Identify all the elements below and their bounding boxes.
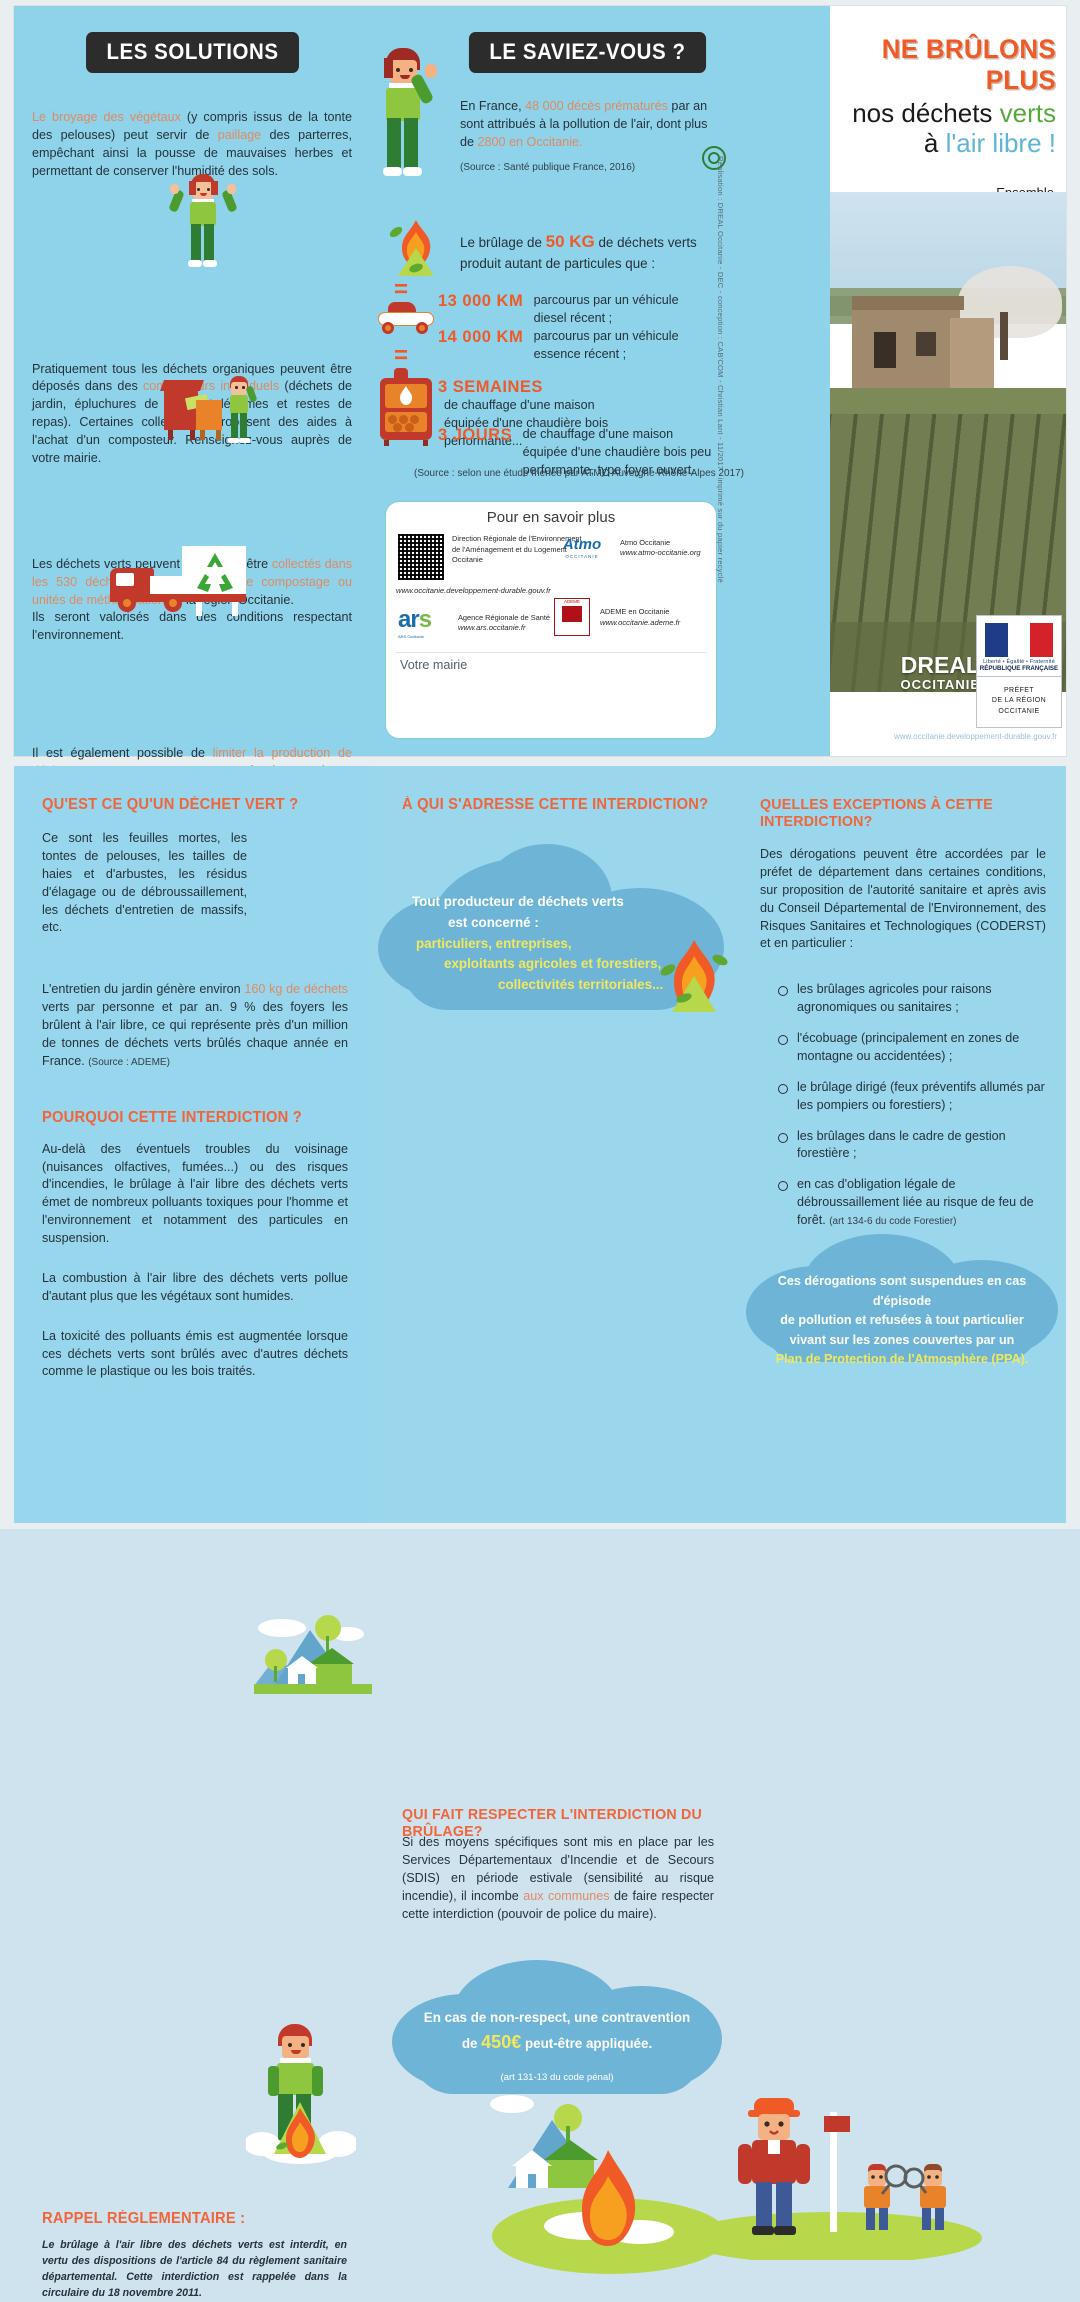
illustration-car [378,302,436,338]
equivalence-row-1: 14 000 KM parcourus par un véhicule esse… [438,328,728,364]
respecter-paragraph: Si des moyens spécifiques sont mis en pl… [402,1834,714,1923]
cover-title-line1: NE BRÛLONS PLUS [839,34,1056,96]
adresse-cloud-line2: est concerné : [448,913,702,934]
illustration-wood-stove [380,368,432,446]
republique-francaise-block: Liberté • Égalité • Fraternité RÉPUBLIQU… [976,615,1062,729]
pourquoi-paragraph-2: La combustion à l'air libre des déchets … [42,1270,348,1306]
solutions-paragraph-1: Le broyage des végétaux (y compris issus… [32,109,352,181]
exception-bullet-1: l'écobuage (principalement en zones de m… [778,1030,1046,1066]
adresse-cloud-line5: collectivités territoriales... [498,975,702,996]
equivalence-row-0: 13 000 KM parcourus par un véhicule dies… [438,292,728,328]
contact-0-url: www.occitanie.developpement-durable.gouv… [396,586,551,595]
contact-3-name: ADEME en Occitanie [600,607,680,618]
footer-url: www.occitanie.developpement-durable.gouv… [894,732,1057,741]
illustration-recycling-truck [110,546,285,626]
leaflet-outer-side: LES SOLUTIONS Le broyage des végétaux (y… [14,6,1066,756]
illustration-countryside [254,1614,372,1694]
contact-1-name: Agence Régionale de Santé [458,613,550,624]
illustration-burning-waste [388,218,444,280]
pourquoi-paragraph-3: La toxicité des polluants émis est augme… [42,1328,348,1382]
qr-code-icon [398,534,444,580]
panel-adresse-respecter: À QUI S'ADRESSE CETTE INTERDICTION? Tout… [370,766,732,1523]
marianne-name: RÉPUBLIQUE FRANÇAISE [977,665,1061,672]
cover-title-line3: à l'air libre ! [830,128,1056,158]
exceptions-intro: Des dérogations peuvent être accordées p… [760,846,1046,953]
votre-mairie-field: Votre mairie [400,658,467,672]
respecter-cloud-line1: En cas de non-respect, une contravention [412,2008,702,2029]
saviez-vous-source-2: (Source : selon une étude menée par ATMO… [414,468,744,479]
exceptions-heading: QUELLES EXCEPTIONS À CETTE INTERDICTION? [760,796,1051,830]
exception-bullet-3: les brûlages dans le cadre de gestion fo… [778,1128,1046,1164]
print-credit: Réalisation : DREAL Occitanie - DEC - co… [716,156,725,486]
illustration-composter [164,376,264,446]
illustration-happy-kid [166,174,240,270]
saviez-vous-intro: Le brûlage de 50 KG de déchets verts pro… [460,230,720,273]
panel-solutions: LES SOLUTIONS Le broyage des végétaux (y… [14,6,372,756]
ars-logo: ars ARS Occitanie [398,606,450,639]
saviez-vous-paragraph-1: En France, 48 000 décès prématurés par a… [460,98,710,152]
scanned-page: LES SOLUTIONS Le broyage des végétaux (y… [0,0,1080,1529]
illustration-pointing-kid [378,48,454,183]
leaflet-inner-side: QU'EST CE QU'UN DÉCHET VERT ? Ce sont le… [14,766,1066,1523]
contact-3-url: www.occitanie.ademe.fr [600,618,680,627]
equals-sign-1: = [394,276,408,304]
adresse-cloud-line3: particuliers, entreprises, [416,934,702,955]
cloud-contravention: En cas de non-respect, une contravention… [392,1946,722,2106]
cover-photo-caption: DREAL OCCITANIE [900,654,980,692]
contact-2-name: Atmo Occitanie [620,538,701,549]
saviez-vous-source-1: (Source : Santé publique France, 2016) [460,162,635,173]
french-flag-icon [985,623,1053,657]
ademe-logo: ADEME [554,598,590,636]
saviez-vous-heading: LE SAVIEZ-VOUS ? [469,32,706,73]
atmo-logo: Atmo OCCITANIE [554,536,610,559]
illustration-firefighter-scene [682,2060,982,2260]
bullet-circle-icon [778,1084,788,1094]
exceptions-cloud-line4: Plan de Protection de l'Atmosphère (PPA)… [760,1350,1044,1370]
contact-1-url: www.ars.occitanie.fr [458,623,550,632]
exception-bullet-2: le brûlage dirigé (feux préventifs allum… [778,1079,1046,1115]
respecter-cloud-source: (art 131-13 du code pénal) [412,2071,702,2086]
adresse-heading: À QUI S'ADRESSE CETTE INTERDICTION? [402,796,716,814]
marianne-motto: Liberté • Égalité • Fraternité [977,659,1061,665]
exception-bullet-0: les brûlages agricoles pour raisons agro… [778,981,1046,1017]
dechet-vert-paragraph-2: L'entretien du jardin génère environ 160… [42,981,348,1070]
cover-title-line2: nos déchets verts [830,98,1056,128]
exceptions-cloud-line3: vivant sur les zones couvertes par un [760,1331,1044,1351]
exceptions-cloud-line1: Ces dérogations sont suspendues en cas d… [760,1272,1044,1311]
prefet-block: PRÉFET DE LA RÉGION OCCITANIE [977,676,1061,728]
contact-2-url: www.atmo-occitanie.org [620,548,701,557]
adresse-cloud-line4: exploitants agricoles et forestiers, [444,954,702,975]
cloud-concerned-parties: Tout producteur de déchets verts est con… [378,834,728,1024]
bullet-circle-icon [778,1133,788,1143]
dechet-vert-heading: QU'EST CE QU'UN DÉCHET VERT ? [42,796,354,814]
exception-bullet-4: en cas d'obligation légale de débroussai… [778,1176,1046,1230]
contacts-card: Pour en savoir plus Direction Régionale … [386,502,716,738]
bullet-circle-icon [778,1035,788,1045]
contacts-heading: Pour en savoir plus [386,502,716,526]
rappel-text: Le brûlage à l'air libre des déchets ver… [42,2238,347,2302]
bullet-circle-icon [778,986,788,996]
solutions-heading: LES SOLUTIONS [86,32,299,73]
dechet-vert-paragraph-1: Ce sont les feuilles mortes, les tontes … [42,830,247,937]
panel-exceptions: QUELLES EXCEPTIONS À CETTE INTERDICTION?… [732,766,1066,1523]
rappel-heading: RAPPEL RÉGLEMENTAIRE : [42,2210,245,2228]
cloud-derogations: Ces dérogations sont suspendues en cas d… [746,1226,1058,1376]
panel-saviez-vous: LE SAVIEZ-VOUS ? En France, 4 [372,6,830,756]
pourquoi-heading: POURQUOI CETTE INTERDICTION ? [42,1109,354,1127]
illustration-kid-bonfire [246,2024,356,2164]
equals-sign-2: = [394,342,408,370]
panel-dechet-vert: QU'EST CE QU'UN DÉCHET VERT ? Ce sont le… [14,766,370,1523]
adresse-cloud-line1: Tout producteur de déchets verts [412,892,702,913]
panel-cover: NE BRÛLONS PLUS nos déchets verts à l'ai… [830,6,1066,756]
pourquoi-paragraph-1: Au-delà des éventuels troubles du voisin… [42,1141,348,1248]
respecter-cloud-line2: de 450€ peut-être appliquée. [412,2029,702,2057]
bullet-circle-icon [778,1181,788,1191]
exceptions-cloud-line2: de pollution et refusées à tout particul… [760,1311,1044,1331]
